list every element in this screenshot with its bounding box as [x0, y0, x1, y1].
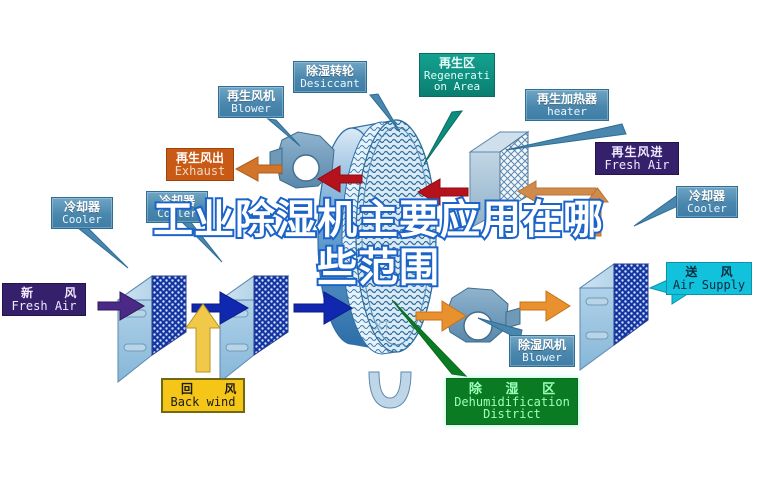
callout-regeneration-blower-cn: 再生风机	[223, 90, 279, 103]
callout-cooler-left-cn: 冷却器	[56, 201, 108, 214]
callout-desiccant-rotor-en: Desiccant	[298, 78, 362, 90]
callout-regeneration-heater-en: heater	[530, 106, 604, 118]
callout-cooler-left-en: Cooler	[56, 214, 108, 226]
callout-regeneration-heater[interactable]: 再生加热器 heater	[525, 89, 609, 121]
callout-desiccant-rotor[interactable]: 除湿转轮 Desiccant	[293, 61, 367, 93]
callout-regeneration-fresh-air[interactable]: 再生风进 Fresh Air	[595, 142, 679, 175]
callout-cooler-mid[interactable]: 冷却器 Cooler	[146, 191, 208, 223]
diagram-canvas: XT	[0, 0, 757, 488]
callout-cooler-right-en: Cooler	[681, 203, 733, 215]
callout-cooler-left[interactable]: 冷却器 Cooler	[51, 197, 113, 229]
callout-exhaust-cn: 再生风出	[171, 152, 229, 165]
diagram-graphics: XT	[0, 0, 757, 488]
arrow-regen-fresh-air	[518, 181, 608, 236]
callout-cooler-right-cn: 冷却器	[681, 190, 733, 203]
desiccant-rotor: XT	[318, 120, 436, 408]
callout-regeneration-blower-en: Blower	[223, 103, 279, 115]
callout-regeneration-area[interactable]: 再生区 Regenerati on Area	[419, 53, 495, 97]
callout-dehumidification-blower[interactable]: 除湿风机 Blower	[509, 335, 575, 367]
callout-cooler-right[interactable]: 冷却器 Cooler	[676, 186, 738, 218]
cooler-unit-mid	[220, 276, 288, 382]
callout-dehumidification-district[interactable]: 除 湿 区 Dehumidification District	[446, 378, 578, 425]
callout-regeneration-fresh-air-cn: 再生风进	[600, 146, 674, 159]
callout-regeneration-blower[interactable]: 再生风机 Blower	[218, 86, 284, 118]
callout-regeneration-heater-cn: 再生加热器	[530, 93, 604, 106]
cooler-unit-left	[118, 276, 186, 382]
callout-cooler-mid-cn: 冷却器	[151, 195, 203, 208]
callout-regeneration-area-cn: 再生区	[423, 57, 491, 70]
callout-exhaust[interactable]: 再生风出 Exhaust	[166, 148, 234, 181]
callout-fresh-air-inlet-en: Fresh Air	[7, 300, 81, 313]
cooler-unit-right	[580, 264, 648, 370]
callout-desiccant-rotor-cn: 除湿转轮	[298, 65, 362, 78]
rotor-watermark: XT	[374, 318, 391, 333]
callout-regeneration-fresh-air-en: Fresh Air	[600, 159, 674, 172]
callout-dehumidification-blower-en: Blower	[514, 352, 570, 364]
callout-dehumidification-district-cn: 除 湿 区	[451, 382, 573, 396]
callout-regeneration-area-en2: on Area	[423, 81, 491, 93]
callout-air-supply-cn: 送 风	[671, 266, 747, 279]
arrow-back-wind	[186, 304, 220, 372]
callout-exhaust-en: Exhaust	[171, 165, 229, 178]
callout-dehumidification-district-en2: District	[451, 408, 573, 421]
callout-cooler-mid-en: Cooler	[151, 208, 203, 220]
arrow-blower-to-cooler	[520, 291, 570, 321]
callout-air-supply[interactable]: 送 风 Air Supply	[666, 262, 752, 295]
callout-air-supply-en: Air Supply	[671, 279, 747, 292]
callout-fresh-air-inlet-cn: 新 风	[7, 287, 81, 300]
callout-dehumidification-blower-cn: 除湿风机	[514, 339, 570, 352]
callout-back-wind-cn: 回 风	[167, 383, 239, 396]
callout-back-wind-en: Back wind	[167, 396, 239, 409]
callout-fresh-air-inlet[interactable]: 新 风 Fresh Air	[2, 283, 86, 316]
callout-back-wind[interactable]: 回 风 Back wind	[161, 378, 245, 413]
